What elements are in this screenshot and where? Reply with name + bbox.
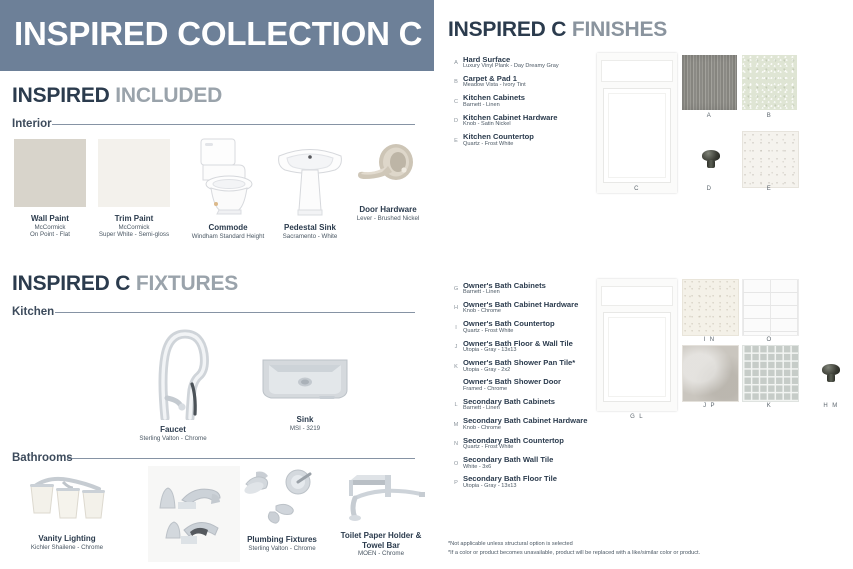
item-sub2: On Point - Flat xyxy=(8,231,92,239)
finish-sub: Quartz - Frost White xyxy=(463,328,513,334)
cabinet-door-panel xyxy=(603,312,670,402)
heading-dark: INSPIRED C xyxy=(12,272,130,295)
swatch-kitchen-cabinet xyxy=(597,53,677,193)
disclaimer-line-1: *Not applicable unless structural option… xyxy=(448,540,848,549)
item-plumbing-fixtures: Plumbing Fixtures Sterling Valton - Chro… xyxy=(234,466,330,552)
heading-dark: INSPIRED C xyxy=(448,18,566,41)
item-name: Plumbing Fixtures xyxy=(234,535,330,545)
finish-sub: Utopia - Gray - 13x13 xyxy=(463,483,516,489)
item-sub1: McCormick xyxy=(92,224,176,232)
swatch-label-hm: H M xyxy=(807,403,853,409)
swatch-kitchen-knob xyxy=(702,150,720,168)
finish-sub: Barnett - Linen xyxy=(463,102,500,108)
shower-trim-icon xyxy=(240,466,324,528)
swatch-label-d: D xyxy=(682,186,737,192)
swatch-label-gl: G L xyxy=(597,414,677,420)
section-heading-included: INSPIRED INCLUDED xyxy=(12,84,222,108)
swatch-label-a: A xyxy=(682,113,737,119)
swatch-label-b: B xyxy=(742,113,797,119)
tub-filler-icon xyxy=(148,466,240,562)
swatch-label-e: E xyxy=(742,186,797,192)
finish-letter: P xyxy=(451,480,461,486)
right-column: INSPIRED C FINISHES A Hard Surface Luxur… xyxy=(445,0,853,569)
finish-sub: Knob - Chrome xyxy=(463,425,501,431)
item-kitchen-faucet: Faucet Sterling Valton - Chrome xyxy=(118,324,228,442)
swatch-bath-countertop xyxy=(682,279,739,336)
finish-letter: K xyxy=(451,364,461,370)
paint-swatch-icon xyxy=(98,139,170,207)
item-sub2: Super White - Semi-gloss xyxy=(92,231,176,239)
item-sub1: Towel Bar xyxy=(326,541,436,551)
finish-sub: Quartz - Frost White xyxy=(463,141,513,147)
finish-letter: O xyxy=(451,461,461,467)
finish-letter: N xyxy=(451,441,461,447)
finish-sub: Utopia - Gray - 13x13 xyxy=(463,347,516,353)
finish-sub: Luxury Vinyl Plank - Day Dreamy Gray xyxy=(463,63,559,69)
finish-row: P Secondary Bath Floor Tile Utopia - Gra… xyxy=(445,474,655,493)
item-sub1: Sacramento - White xyxy=(262,233,358,241)
item-name: Door Hardware xyxy=(340,205,436,215)
finish-sub: Quartz - Frost White xyxy=(463,444,513,450)
heading-gray: FIXTURES xyxy=(136,272,238,295)
subsection-label-bathrooms: Bathrooms xyxy=(12,452,73,464)
towel-bar-icon xyxy=(333,468,429,524)
swatch-label-k: K xyxy=(742,403,797,409)
finish-letter: J xyxy=(451,344,461,350)
knob-stem-icon xyxy=(827,374,834,382)
swatch-label-in: I N xyxy=(682,337,737,343)
swatch-bath-knob xyxy=(822,364,840,382)
finish-letter: E xyxy=(451,138,461,144)
finish-sub: Meadow Vista - Ivory Tint xyxy=(463,82,526,88)
item-kitchen-sink: Sink MSI - 3219 xyxy=(252,352,358,432)
finish-letter: B xyxy=(451,79,461,85)
item-name: Toilet Paper Holder & xyxy=(326,531,436,541)
swatch-kitchen-countertop xyxy=(742,131,799,188)
swatch-carpet xyxy=(742,55,797,110)
finish-letter: G xyxy=(451,286,461,292)
finish-letter: I xyxy=(451,325,461,331)
heading-dark: INSPIRED xyxy=(12,84,110,107)
item-tub-filler xyxy=(148,466,240,567)
toilet-icon xyxy=(193,136,263,216)
item-name: Vanity Lighting xyxy=(12,534,122,544)
finish-row: O Secondary Bath Wall Tile White - 3x6 xyxy=(445,455,655,474)
finish-row: N Secondary Bath Countertop Quartz - Fro… xyxy=(445,435,655,454)
item-trim-paint: Trim Paint McCormick Super White - Semi-… xyxy=(92,139,176,239)
cabinet-door-panel xyxy=(603,88,670,183)
item-towel-bar: Toilet Paper Holder & Towel Bar MOEN - C… xyxy=(326,468,436,558)
swatch-bath-cabinet xyxy=(597,279,677,411)
collection-banner: INSPIRED COLLECTION C xyxy=(0,0,434,71)
section-heading-finishes: INSPIRED C FINISHES xyxy=(448,18,667,42)
item-sub1: Lever - Brushed Nickel xyxy=(340,215,436,223)
item-wall-paint: Wall Paint McCormick On Point - Flat xyxy=(8,139,92,239)
kitchen-sink-icon xyxy=(259,352,351,408)
finish-letter: L xyxy=(451,402,461,408)
finish-sub: White - 3x6 xyxy=(463,464,491,470)
item-name: Wall Paint xyxy=(8,214,92,224)
collection-sheet: INSPIRED COLLECTION C INSPIRED INCLUDED … xyxy=(0,0,853,569)
heading-gray: INCLUDED xyxy=(115,84,222,107)
finish-sub: Utopia - Gray - 2x2 xyxy=(463,367,510,373)
divider-kitchen xyxy=(55,312,415,313)
item-sub1: MSI - 3219 xyxy=(252,425,358,433)
swatch-label-c: C xyxy=(597,186,677,192)
subsection-label-interior: Interior xyxy=(12,118,52,130)
finish-sub: Framed - Chrome xyxy=(463,386,507,392)
page-title: INSPIRED COLLECTION C xyxy=(14,14,422,54)
swatch-wall-tile xyxy=(742,279,799,336)
knob-stem-icon xyxy=(707,160,714,168)
section-heading-fixtures: INSPIRED C FIXTURES xyxy=(12,272,238,296)
swatch-mosaic-tile xyxy=(742,345,799,402)
heading-gray: FINISHES xyxy=(572,18,667,41)
item-sub1: Kichler Shailene - Chrome xyxy=(12,544,122,552)
finish-letter: A xyxy=(451,60,461,66)
item-sub1: Sterling Valton - Chrome xyxy=(234,545,330,553)
item-name: Sink xyxy=(252,415,358,425)
finish-letter: H xyxy=(451,305,461,311)
swatch-label-o: O xyxy=(742,337,797,343)
disclaimer-line-2: *If a color or product becomes unavailab… xyxy=(448,549,848,558)
finish-letter: C xyxy=(451,99,461,105)
door-lever-icon xyxy=(352,140,424,198)
finish-sub: Barnett - Linen xyxy=(463,289,500,295)
item-sub2: MOEN - Chrome xyxy=(326,550,436,558)
item-name: Pedestal Sink xyxy=(262,223,358,233)
left-column: INSPIRED COLLECTION C INSPIRED INCLUDED … xyxy=(0,0,440,569)
item-sub1: Sterling Valton - Chrome xyxy=(118,435,228,443)
pedestal-sink-icon xyxy=(271,136,349,216)
finish-sub: Knob - Chrome xyxy=(463,308,501,314)
finish-letter: D xyxy=(451,118,461,124)
paint-swatch-icon xyxy=(14,139,86,207)
item-vanity-lighting: Vanity Lighting Kichler Shailene - Chrom… xyxy=(12,470,122,551)
finish-letter: M xyxy=(451,422,461,428)
item-name: Faucet xyxy=(118,425,228,435)
cabinet-drawer-front xyxy=(601,286,673,306)
swatch-label-jp: J P xyxy=(682,403,737,409)
subsection-label-kitchen: Kitchen xyxy=(12,306,54,318)
swatch-hard-surface xyxy=(682,55,737,110)
kitchen-faucet-icon xyxy=(137,324,209,420)
item-sub1: McCormick xyxy=(8,224,92,232)
divider-interior xyxy=(52,124,415,125)
swatch-floor-tile xyxy=(682,345,739,402)
finish-sub: Barnett - Linen xyxy=(463,405,500,411)
footer-disclaimers: *Not applicable unless structural option… xyxy=(448,540,848,558)
cabinet-drawer-front xyxy=(601,60,673,82)
divider-bathrooms xyxy=(67,458,415,459)
finish-sub: Knob - Satin Nickel xyxy=(463,121,511,127)
item-door-hardware: Door Hardware Lever - Brushed Nickel xyxy=(340,140,436,222)
item-name: Trim Paint xyxy=(92,214,176,224)
vanity-light-icon xyxy=(19,470,115,526)
